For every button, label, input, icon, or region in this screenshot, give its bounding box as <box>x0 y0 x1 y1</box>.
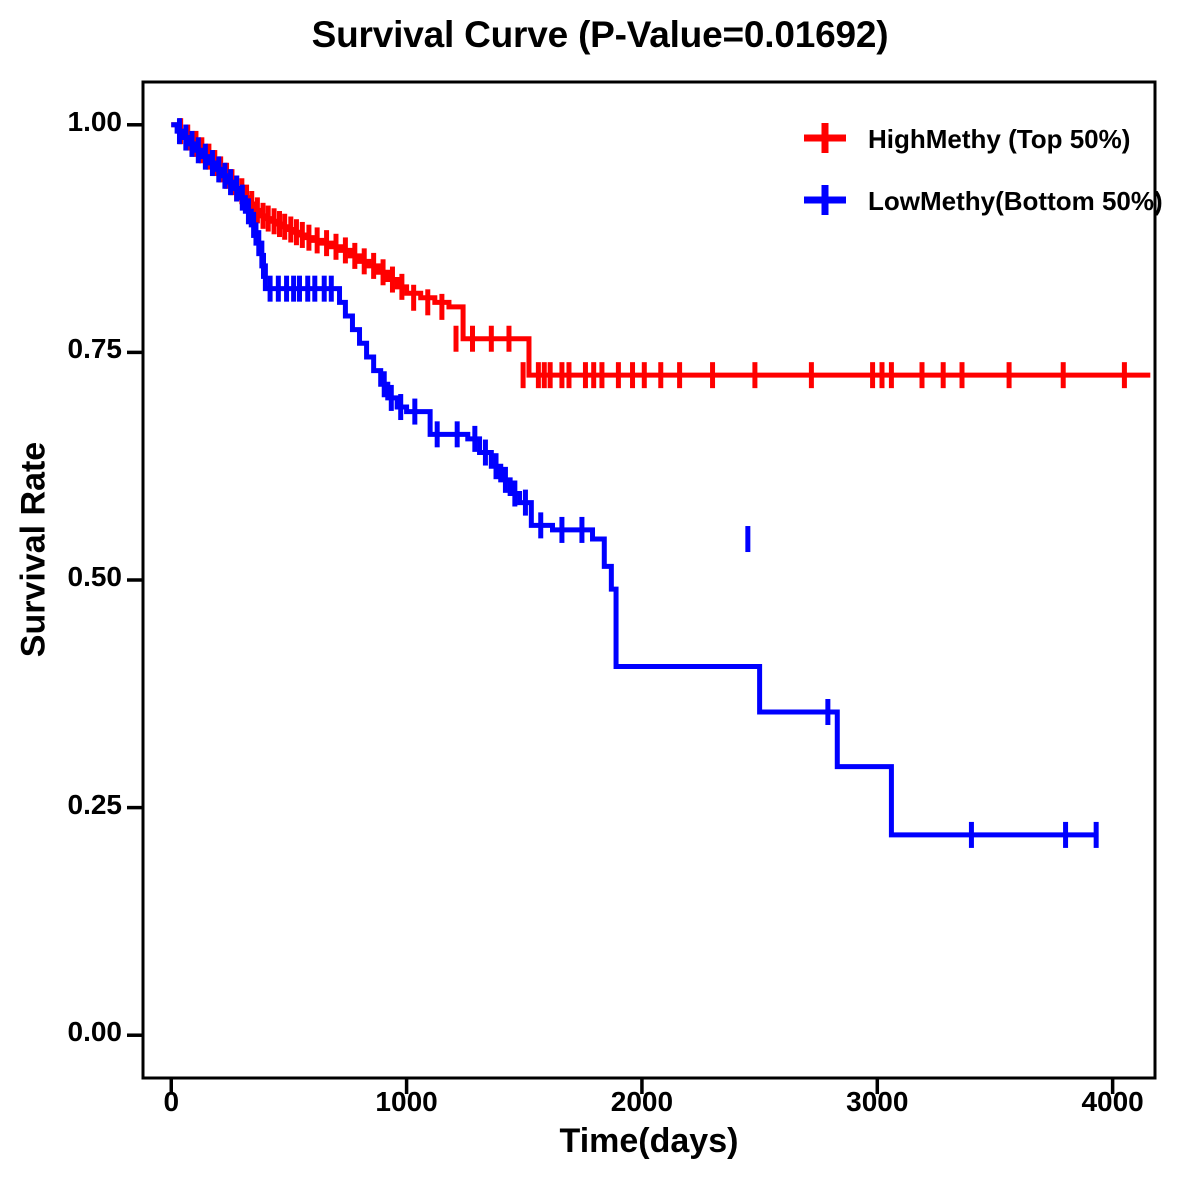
legend: HighMethy (Top 50%)LowMethy(Bottom 50%) <box>804 123 1163 216</box>
survival-curve-figure: Survival Curve (P-Value=0.01692) Surviva… <box>0 0 1200 1200</box>
series-high-methy <box>171 118 1150 388</box>
series-layer <box>171 118 1150 848</box>
censor-marks <box>181 118 1125 388</box>
legend-label: LowMethy(Bottom 50%) <box>868 186 1163 216</box>
legend-item-low-methy[interactable]: LowMethy(Bottom 50%) <box>804 185 1163 216</box>
plot-canvas: HighMethy (Top 50%)LowMethy(Bottom 50%) <box>0 0 1200 1200</box>
legend-item-high-methy[interactable]: HighMethy (Top 50%) <box>804 123 1130 154</box>
legend-label: HighMethy (Top 50%) <box>868 124 1130 154</box>
axis-tick-marks <box>127 125 1113 1094</box>
